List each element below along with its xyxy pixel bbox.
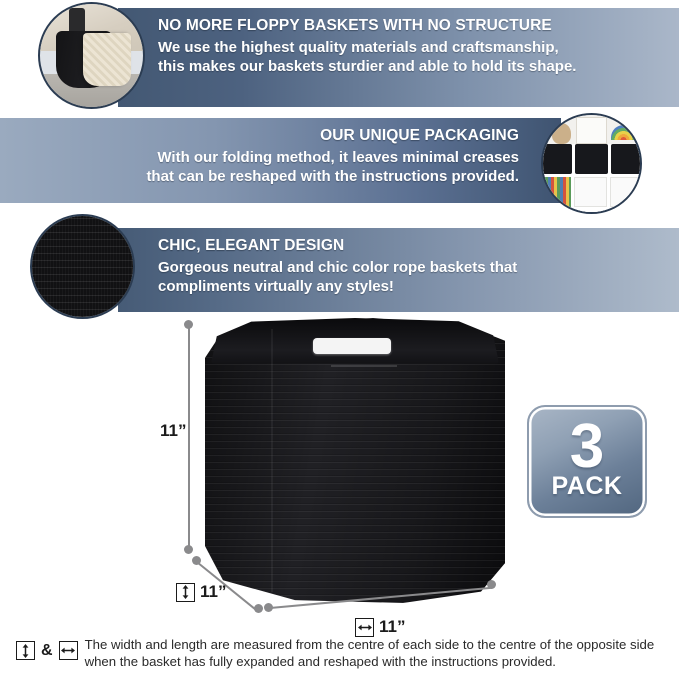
feature-title: CHIC, ELEGANT DESIGN	[158, 237, 663, 254]
feature-title: NO MORE FLOPPY BASKETS WITH NO STRUCTURE	[158, 17, 663, 34]
photo-books	[541, 177, 571, 207]
basket-with-throw-photo	[38, 2, 145, 109]
basket-corner-edge	[271, 329, 273, 591]
vertical-arrow-icon	[176, 583, 195, 602]
feature-body: We use the highest quality materials and…	[158, 39, 663, 77]
feature-body-line-2: that can be reshaped with the instructio…	[16, 168, 519, 187]
depth-guide-dot-end	[254, 604, 263, 613]
feature-banner-chic-elegant-design: CHIC, ELEGANT DESIGN Gorgeous neutral an…	[118, 228, 679, 312]
cube-shelf-with-bins-photo	[541, 113, 642, 214]
height-guide-dot-bottom	[184, 545, 193, 554]
photo-shelf-row-bottom	[541, 177, 642, 207]
footnote-ampersand: &	[41, 642, 53, 660]
pack-count-badge: 3 PACK	[527, 405, 647, 518]
photo-knit-throw	[83, 33, 130, 87]
photo-teddy-bear	[552, 123, 571, 144]
pack-count-word: PACK	[552, 474, 623, 499]
photo-wall-art	[576, 117, 607, 144]
pack-count-number: 3	[570, 420, 604, 473]
photo-storage-bin	[541, 144, 572, 174]
basket-seam	[331, 365, 397, 367]
horizontal-arrow-icon	[355, 618, 374, 637]
feature-body-line-1: We use the highest quality materials and…	[158, 39, 663, 58]
photo-storage-bin	[575, 144, 608, 174]
feature-banner-no-floppy-baskets: NO MORE FLOPPY BASKETS WITH NO STRUCTURE…	[118, 8, 679, 107]
footnote-line-2: when the basket has fully expanded and r…	[85, 653, 655, 670]
feature-body-line-2: compliments virtually any styles!	[158, 278, 663, 297]
rope-texture-closeup-photo	[30, 214, 135, 319]
feature-body: With our folding method, it leaves minim…	[16, 149, 519, 187]
width-guide-dot-right	[487, 580, 496, 589]
feature-body-line-1: With our folding method, it leaves minim…	[16, 149, 519, 168]
photo-cube-shelf	[541, 144, 642, 212]
basket-handle-cutout	[313, 338, 391, 354]
vertical-arrow-icon	[16, 641, 35, 660]
feature-body: Gorgeous neutral and chic color rope bas…	[158, 259, 663, 297]
feature-title: OUR UNIQUE PACKAGING	[16, 127, 519, 144]
depth-dimension-label: 11”	[200, 582, 226, 602]
width-dimension-label: 11”	[379, 617, 405, 637]
footnote-icon-group: &	[16, 636, 78, 660]
feature-banner-unique-packaging: OUR UNIQUE PACKAGING With our folding me…	[0, 118, 561, 203]
photo-empty-cube	[610, 177, 642, 207]
height-dimension-label: 11”	[160, 421, 186, 441]
product-basket-photo	[205, 318, 505, 603]
footnote-line-1: The width and length are measured from t…	[85, 636, 655, 653]
measurement-footnote: & The width and length are measured from…	[16, 636, 654, 671]
photo-rope-weave-texture	[32, 216, 133, 317]
depth-dimension-group: 11”	[176, 582, 226, 602]
photo-storage-bin	[611, 144, 642, 174]
footnote-text: The width and length are measured from t…	[85, 636, 655, 671]
feature-body-line-2: this makes our baskets sturdier and able…	[158, 58, 663, 77]
height-guide-line	[188, 327, 190, 549]
width-dimension-group: 11”	[355, 617, 405, 637]
photo-shelf-row-top	[541, 144, 642, 174]
feature-body-line-1: Gorgeous neutral and chic color rope bas…	[158, 259, 663, 278]
horizontal-arrow-icon	[59, 641, 78, 660]
photo-empty-cube	[574, 177, 608, 207]
